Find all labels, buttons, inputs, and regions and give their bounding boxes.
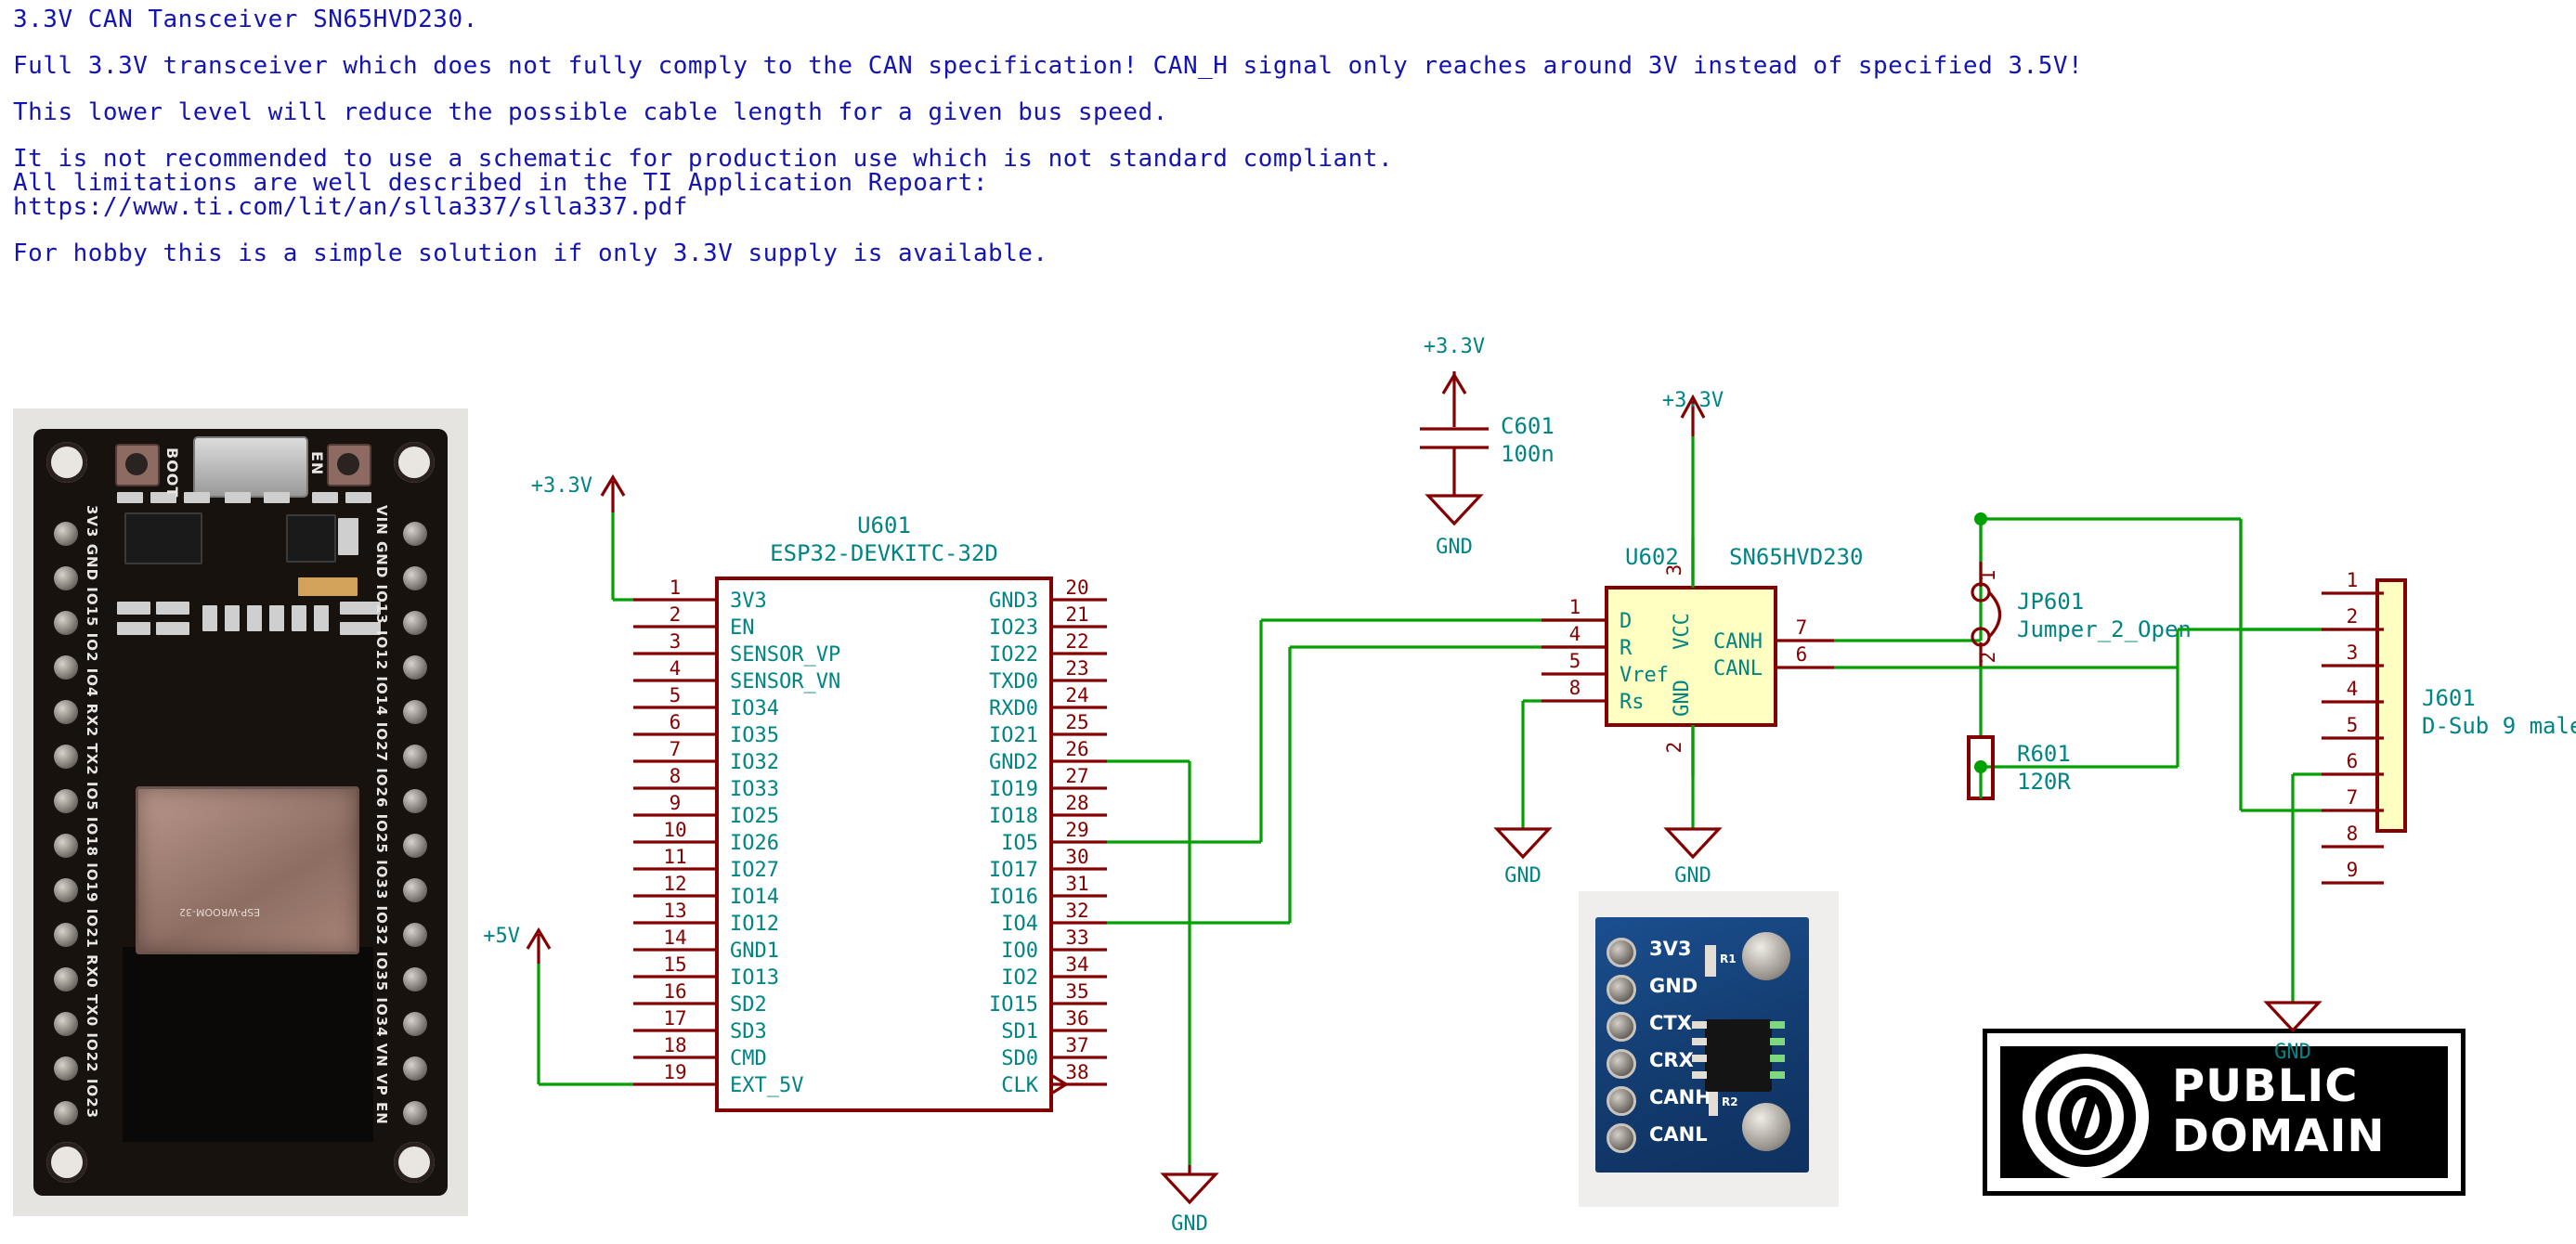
power-flag-esp-3v3: +3.3V xyxy=(531,474,633,600)
u601-pin-num-17: 17 xyxy=(663,1007,686,1030)
label-gnd-cap: GND xyxy=(1436,536,1473,559)
u601-pin-name-io16: IO16 xyxy=(989,886,1038,909)
u601-pin-name-io34: IO34 xyxy=(730,697,779,720)
component-j601[interactable]: J601 D-Sub 9 male 1 2 3 4 5 6 7 8 9 xyxy=(2322,569,2576,883)
schematic-canvas: U601 ESP32-DEVKITC-32D 13V3 2EN 3SENSOR_… xyxy=(0,0,2576,1244)
u601-pin-name-gnd3: GND3 xyxy=(989,590,1038,613)
jp601-ref: JP601 xyxy=(2017,589,2084,615)
u601-pin-num-28: 28 xyxy=(1065,792,1088,814)
u601-pin-num-10: 10 xyxy=(663,819,686,841)
u601-pin-num-11: 11 xyxy=(663,846,686,868)
u601-pin-num-2: 2 xyxy=(670,603,682,626)
label-gnd-esp: GND xyxy=(1171,1212,1208,1236)
u601-pin-name-txd0: TXD0 xyxy=(989,670,1038,693)
u601-pin-name-gnd1: GND1 xyxy=(730,939,779,963)
u601-pin-name-io15: IO15 xyxy=(989,993,1038,1017)
u601-ref: U601 xyxy=(857,512,911,538)
u601-pin-name-sd0: SD0 xyxy=(1001,1047,1038,1070)
c601-value: 100n xyxy=(1501,441,1555,467)
u601-pin-name-io33: IO33 xyxy=(730,778,779,801)
u601-pin-name-io13: IO13 xyxy=(730,966,779,990)
j601-pin-num-9: 9 xyxy=(2347,859,2359,881)
u602-pin-num-7: 7 xyxy=(1796,616,1808,639)
u601-value: ESP32-DEVKITC-32D xyxy=(770,540,998,566)
j601-pin-num-6: 6 xyxy=(2347,750,2359,772)
u601-pin-name-gnd2: GND2 xyxy=(989,751,1038,774)
u601-pin-num-19: 19 xyxy=(663,1061,686,1083)
u601-pin-num-16: 16 xyxy=(663,980,686,1003)
net-canl xyxy=(1834,667,2178,773)
u601-pin-num-4: 4 xyxy=(670,657,682,680)
gnd-symbol-icon xyxy=(1667,829,1719,857)
u602-pin-num-6: 6 xyxy=(1796,643,1808,666)
j601-pin-num-5: 5 xyxy=(2347,714,2359,736)
j601-pin-num-2: 2 xyxy=(2347,605,2359,628)
gnd-symbol-icon xyxy=(1497,829,1549,857)
u601-pin-name-sensor-vp: SENSOR_VP xyxy=(730,643,840,667)
u601-pin-name-sd1: SD1 xyxy=(1001,1020,1038,1043)
u601-pin-num-5: 5 xyxy=(670,684,682,706)
u601-pin-num-38: 38 xyxy=(1065,1061,1088,1083)
j601-pins: 1 2 3 4 5 6 7 8 9 xyxy=(2322,569,2384,883)
u602-pin-name-canh: CANH xyxy=(1713,630,1763,654)
u602-pin-name-vcc: VCC xyxy=(1671,613,1694,650)
u601-pin-name-io27: IO27 xyxy=(730,859,779,882)
u601-pin-name-3v3: 3V3 xyxy=(730,590,767,613)
u601-pin-num-15: 15 xyxy=(663,953,686,976)
label-gnd-j601: GND xyxy=(2274,1041,2311,1064)
u601-pin-name-io12: IO12 xyxy=(730,913,779,936)
label-u602-3v3: +3.3V xyxy=(1662,389,1724,412)
j601-pin-num-1: 1 xyxy=(2347,569,2359,591)
u602-pin-num-4: 4 xyxy=(1569,623,1581,645)
u601-pin-num-29: 29 xyxy=(1065,819,1088,841)
u601-pin-num-7: 7 xyxy=(670,738,682,760)
label-esp-5v: +5V xyxy=(483,925,520,948)
u601-pin-num-32: 32 xyxy=(1065,900,1088,922)
u601-pin-name-io14: IO14 xyxy=(730,886,779,909)
u601-pin-num-27: 27 xyxy=(1065,765,1088,787)
u601-pin-num-6: 6 xyxy=(670,711,682,733)
power-flag-esp-5v: +5V xyxy=(483,925,633,1084)
u601-pin-num-33: 33 xyxy=(1065,927,1088,949)
u601-pin-name-ext5v: EXT_5V xyxy=(730,1074,803,1097)
u601-pin-name-io23: IO23 xyxy=(989,616,1038,640)
j601-pin-num-8: 8 xyxy=(2347,823,2359,845)
u601-pin-num-35: 35 xyxy=(1065,980,1088,1003)
u601-pin-name-sd2: SD2 xyxy=(730,993,767,1017)
u601-pin-name-io32: IO32 xyxy=(730,751,779,774)
u601-pin-num-23: 23 xyxy=(1065,657,1088,680)
label-gnd-u602: GND xyxy=(1674,864,1711,888)
u601-pin-num-14: 14 xyxy=(663,927,686,949)
component-jp601[interactable]: 1 2 JP601 Jumper_2_Open xyxy=(1972,519,2192,737)
u601-pin-num-21: 21 xyxy=(1065,603,1088,626)
u601-pin-name-io25: IO25 xyxy=(730,805,779,828)
u601-pin-num-30: 30 xyxy=(1065,846,1088,868)
j601-value: D-Sub 9 male xyxy=(2422,713,2576,739)
gnd-symbol-icon xyxy=(1164,1165,1216,1202)
u601-pin-num-12: 12 xyxy=(663,873,686,895)
r601-value: 120R xyxy=(2017,769,2071,795)
u602-value: SN65HVD230 xyxy=(1729,544,1864,570)
jp601-value: Jumper_2_Open xyxy=(2017,616,2192,642)
u601-pin-name-io0: IO0 xyxy=(1001,939,1038,963)
u601-pin-num-22: 22 xyxy=(1065,630,1088,653)
label-cap-3v3: +3.3V xyxy=(1424,335,1485,358)
u601-pin-name-io26: IO26 xyxy=(730,832,779,855)
u602-pin-num-2: 2 xyxy=(1663,742,1685,754)
u601-pin-name-en: EN xyxy=(730,616,755,640)
jp601-pin-num-1: 1 xyxy=(1977,570,1999,582)
u602-pin-name-canl: CANL xyxy=(1713,657,1763,680)
component-u601[interactable]: U601 ESP32-DEVKITC-32D 13V3 2EN 3SENSOR_… xyxy=(633,512,1107,1110)
j601-pin-num-4: 4 xyxy=(2347,678,2359,700)
u602-pin-num-8: 8 xyxy=(1569,677,1581,699)
gnd-symbol-icon xyxy=(2267,1003,2319,1030)
u602-pin-num-1: 1 xyxy=(1569,596,1581,618)
u601-pin-num-9: 9 xyxy=(670,792,682,814)
u601-pin-num-25: 25 xyxy=(1065,711,1088,733)
net-gnd2-to-gnd: GND xyxy=(1107,761,1216,1236)
u601-pin-name-io2: IO2 xyxy=(1001,966,1038,990)
u602-pin-name-d: D xyxy=(1620,610,1632,633)
u601-pin-name-rxd0: RXD0 xyxy=(989,697,1038,720)
u601-pin-num-8: 8 xyxy=(670,765,682,787)
power-arrow-icon xyxy=(602,477,624,512)
component-c601[interactable]: +3.3V GND C601 100n xyxy=(1420,335,1555,559)
u601-pin-name-io21: IO21 xyxy=(989,724,1038,747)
u602-pin-name-rs: Rs xyxy=(1620,691,1645,714)
j601-ref: J601 xyxy=(2422,685,2476,711)
component-u602[interactable]: U602 SN65HVD230 1 D 4 R 5 Vref 8 Rs 7 CA… xyxy=(1542,537,1864,776)
u601-pin-num-31: 31 xyxy=(1065,873,1088,895)
net-io5-to-d xyxy=(1107,620,1607,842)
jp601-open-arc xyxy=(1989,592,2000,637)
u602-pin-num-3: 3 xyxy=(1663,564,1685,577)
u601-pin-name-io19: IO19 xyxy=(989,778,1038,801)
net-rs-to-gnd: GND xyxy=(1497,701,1549,888)
label-gnd-rs: GND xyxy=(1504,864,1542,888)
j601-pin-num-3: 3 xyxy=(2347,641,2359,664)
u601-pin-name-io18: IO18 xyxy=(989,805,1038,828)
u601-pin-num-24: 24 xyxy=(1065,684,1088,706)
u601-pin-num-20: 20 xyxy=(1065,577,1088,599)
j601-pin-num-7: 7 xyxy=(2347,786,2359,809)
jp601-pin-num-2: 2 xyxy=(1977,652,1999,664)
u601-pin-name-cmd: CMD xyxy=(730,1047,767,1070)
power-arrow-icon xyxy=(527,930,550,964)
u601-pin-name-io5: IO5 xyxy=(1001,832,1038,855)
r601-ref: R601 xyxy=(2017,741,2071,767)
c601-ref: C601 xyxy=(1501,413,1555,439)
u601-pin-name-sensor-vn: SENSOR_VN xyxy=(730,670,840,693)
net-j601-connections: GND xyxy=(2178,519,2322,1064)
u601-pin-name-clk: CLK xyxy=(1001,1074,1038,1097)
u601-pin-num-36: 36 xyxy=(1065,1007,1088,1030)
u601-pin-num-18: 18 xyxy=(663,1034,686,1056)
u601-pin-num-37: 37 xyxy=(1065,1034,1088,1056)
u601-left-pins: 13V3 2EN 3SENSOR_VP 4SENSOR_VN 5IO34 6IO… xyxy=(633,577,840,1097)
u601-pin-num-13: 13 xyxy=(663,900,686,922)
u601-right-pins: 20GND3 21IO23 22IO22 23TXD0 24RXD0 25IO2… xyxy=(989,577,1107,1097)
u601-pin-name-io22: IO22 xyxy=(989,643,1038,667)
u601-pin-name-sd3: SD3 xyxy=(730,1020,767,1043)
u602-pin-name-gnd: GND xyxy=(1671,680,1694,717)
u601-pin-name-io17: IO17 xyxy=(989,859,1038,882)
u601-pin-num-26: 26 xyxy=(1065,738,1088,760)
u602-pin-name-vref: Vref xyxy=(1620,664,1669,687)
u601-pin-name-io35: IO35 xyxy=(730,724,779,747)
u601-pin-name-io4: IO4 xyxy=(1001,913,1038,936)
gnd-symbol-icon xyxy=(1428,496,1480,524)
label-esp-3v3: +3.3V xyxy=(531,474,592,498)
u601-pin-num-1: 1 xyxy=(670,577,682,599)
u601-pin-num-3: 3 xyxy=(670,630,682,653)
u601-pin-num-34: 34 xyxy=(1065,953,1088,976)
u602-pin-num-5: 5 xyxy=(1569,650,1581,672)
u602-pin-name-r: R xyxy=(1620,637,1633,660)
